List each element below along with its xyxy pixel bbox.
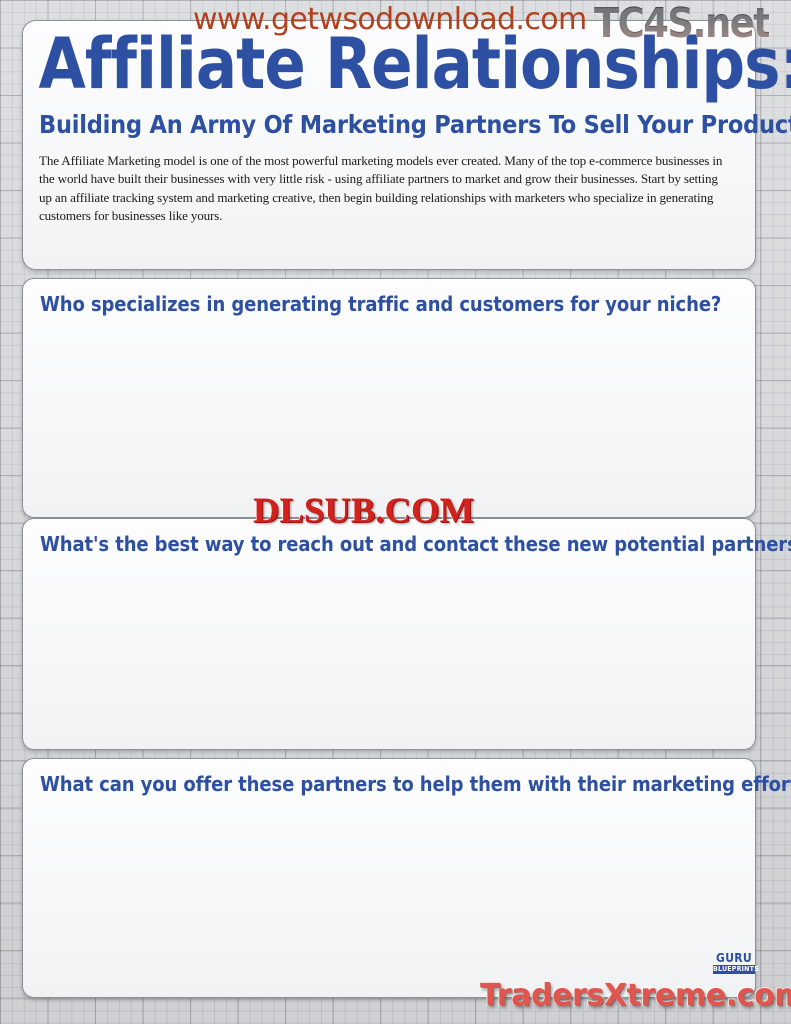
answer-area-2[interactable] xyxy=(23,554,755,744)
question-label-3: What can you offer these partners to hel… xyxy=(23,759,755,794)
watermark-dlsub: DLSUB.COM xyxy=(253,489,474,531)
watermark-top-url: www.getwsodownload.com xyxy=(193,2,587,37)
question-card-3: What can you offer these partners to hel… xyxy=(22,758,756,998)
question-label-1: Who specializes in generating traffic an… xyxy=(23,279,755,314)
logo-bottom-text: BLUEPRINTS xyxy=(713,965,755,974)
guru-blueprints-logo: GURU BLUEPRINTS xyxy=(713,952,755,974)
logo-top-text: GURU xyxy=(713,952,755,964)
answer-area-3[interactable] xyxy=(23,794,755,992)
intro-paragraph: The Affiliate Marketing model is one of … xyxy=(23,138,755,226)
question-card-2: What's the best way to reach out and con… xyxy=(22,518,756,750)
watermark-tradersxtreme: TradersXtreme.com xyxy=(480,978,791,1013)
answer-area-1[interactable] xyxy=(23,314,755,512)
worksheet-page: Affiliate Relationships: Building An Arm… xyxy=(0,0,791,1024)
question-card-1: Who specializes in generating traffic an… xyxy=(22,278,756,518)
watermark-tc4s: TC4S.net xyxy=(594,0,769,47)
header-card: Affiliate Relationships: Building An Arm… xyxy=(22,20,756,270)
